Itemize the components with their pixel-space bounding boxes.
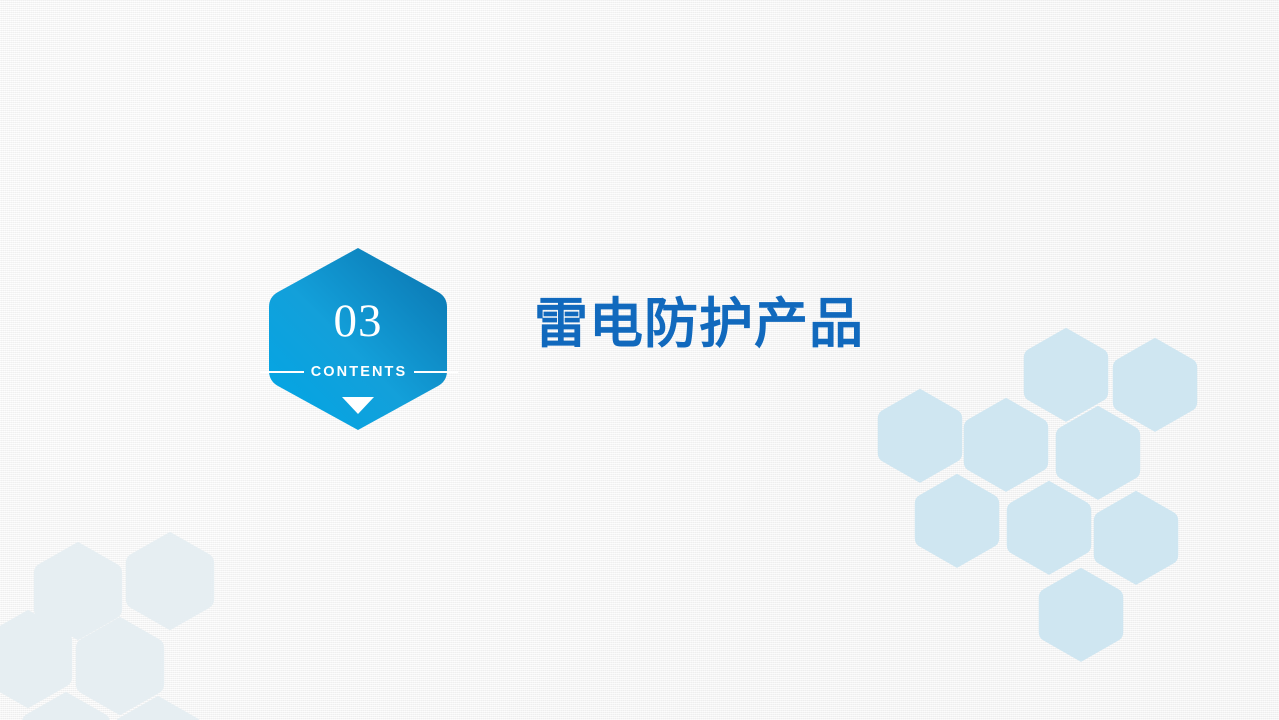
contents-rule-right: [414, 371, 458, 373]
slide-background-texture: [0, 0, 1279, 720]
hexagon-shape: [1037, 566, 1125, 669]
hexagon-shape: [32, 540, 124, 647]
hexagon-shape: [124, 530, 216, 637]
hexagon-shape: [0, 608, 74, 715]
hexagon-shape: [962, 396, 1050, 499]
hexagon-shape: [1005, 479, 1093, 582]
hexagon-shape: [1092, 489, 1180, 592]
hexagon-shape: [74, 615, 166, 720]
contents-rule-left: [260, 371, 304, 373]
badge-contents-label: CONTENTS: [304, 364, 415, 380]
triangle-down-icon: [342, 397, 374, 414]
page-title: 雷电防护产品: [534, 296, 864, 353]
hexagon-shape: [1022, 326, 1110, 429]
hexagon-shape: [20, 690, 112, 720]
hexagon-shape: [876, 387, 964, 490]
badge-contents-row: CONTENTS: [260, 363, 458, 381]
hexagon-shape: [112, 694, 204, 720]
badge-number: 03: [266, 298, 450, 345]
hexagon-shape: [1111, 336, 1199, 439]
hexagon-cluster-right: [0, 0, 1279, 720]
slide-canvas: 03 CONTENTS 雷电防护产品: [0, 0, 1279, 720]
section-number-badge: 03 CONTENTS: [266, 245, 450, 433]
hexagon-shape: [913, 472, 1001, 575]
hexagon-cluster-left: [0, 0, 1279, 720]
hexagon-shape: [1054, 404, 1142, 507]
